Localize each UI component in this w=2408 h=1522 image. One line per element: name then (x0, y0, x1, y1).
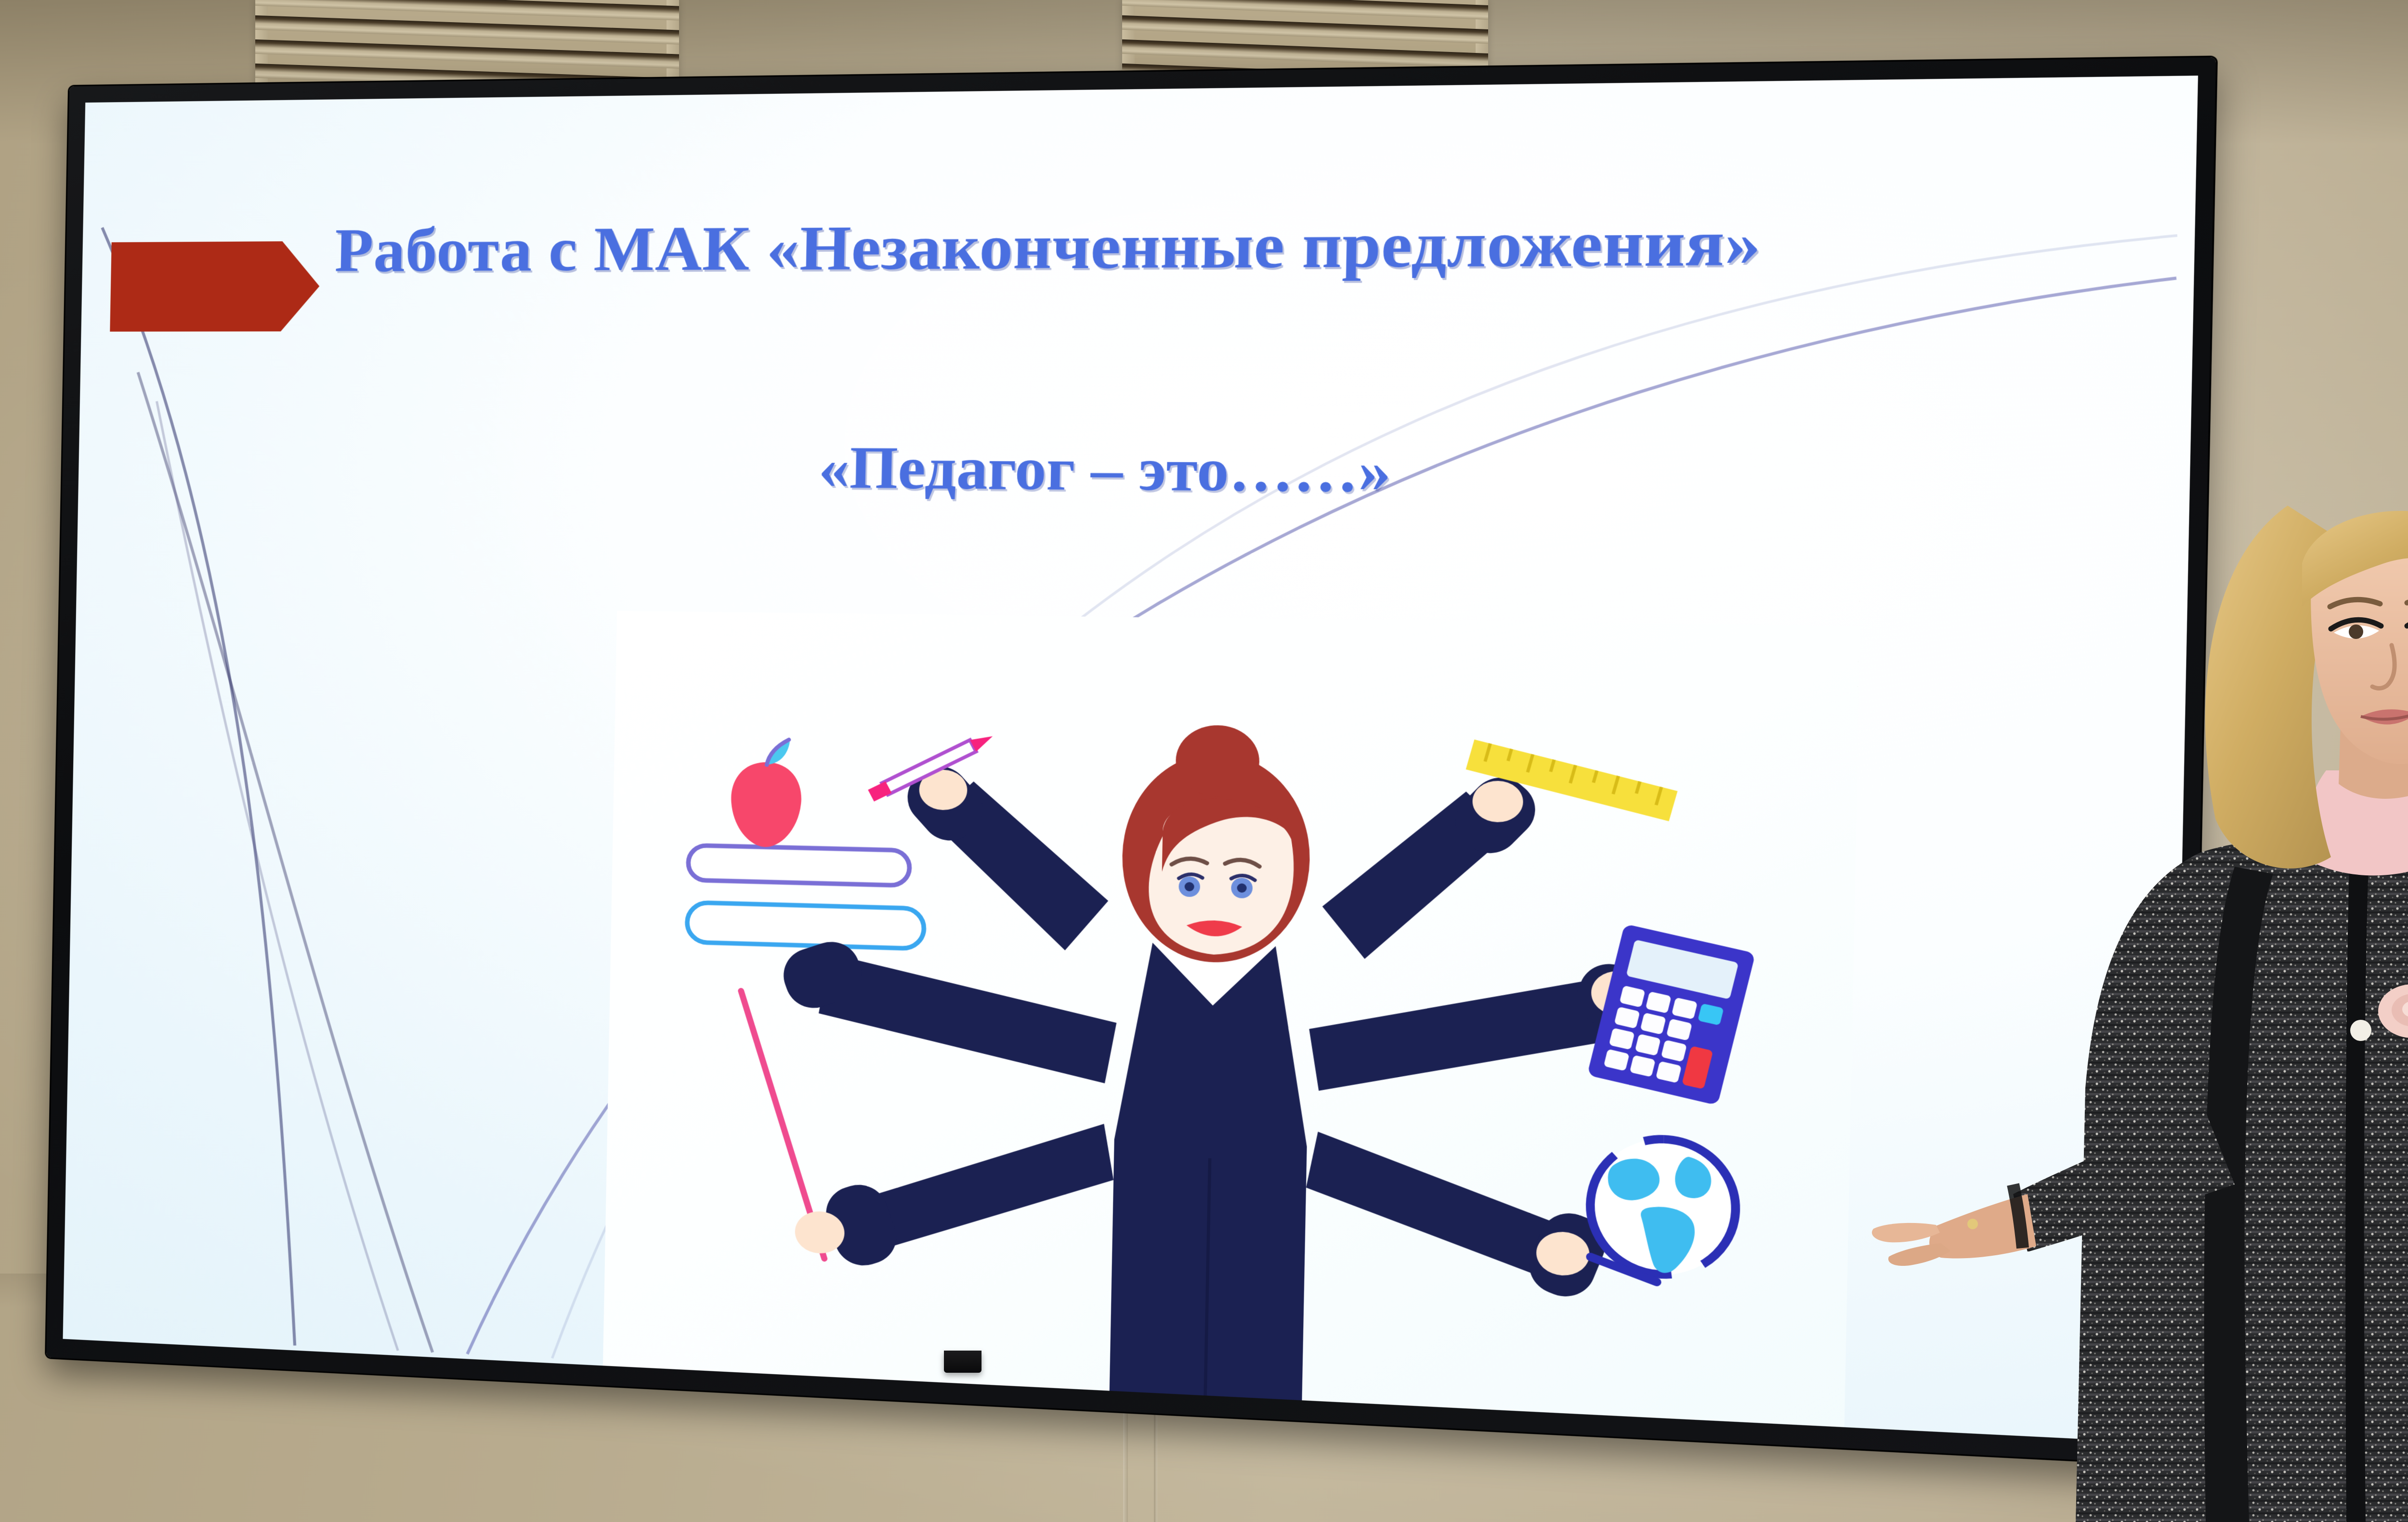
globe-icon (1589, 1137, 1737, 1286)
photo-scene: Работа с МАК «Незаконченные предложения»… (0, 0, 2408, 1522)
illustration-panel (602, 611, 1860, 1443)
multi-armed-teacher-illustration (602, 611, 1860, 1443)
teacher-arms-left (770, 752, 1122, 1284)
books-stack-icon (687, 845, 925, 949)
calculator-icon (1587, 924, 1755, 1106)
presentation-slide: Работа с МАК «Незаконченные предложения»… (63, 76, 2198, 1444)
red-pentagon-arrow-banner (110, 241, 320, 332)
tv-wall-mount-bracket (944, 1351, 982, 1373)
teacher-body (1109, 922, 1311, 1418)
tv-screen: Работа с МАК «Незаконченные предложения»… (63, 76, 2198, 1444)
wall-mounted-tv: Работа с МАК «Незаконченные предложения»… (46, 57, 2216, 1466)
slide-title: Работа с МАК «Незаконченные предложения» (334, 202, 2145, 286)
teacher-head (1120, 724, 1312, 965)
apple-icon (730, 739, 802, 848)
slide-subtitle: «Педагог – это……» (818, 433, 2019, 511)
